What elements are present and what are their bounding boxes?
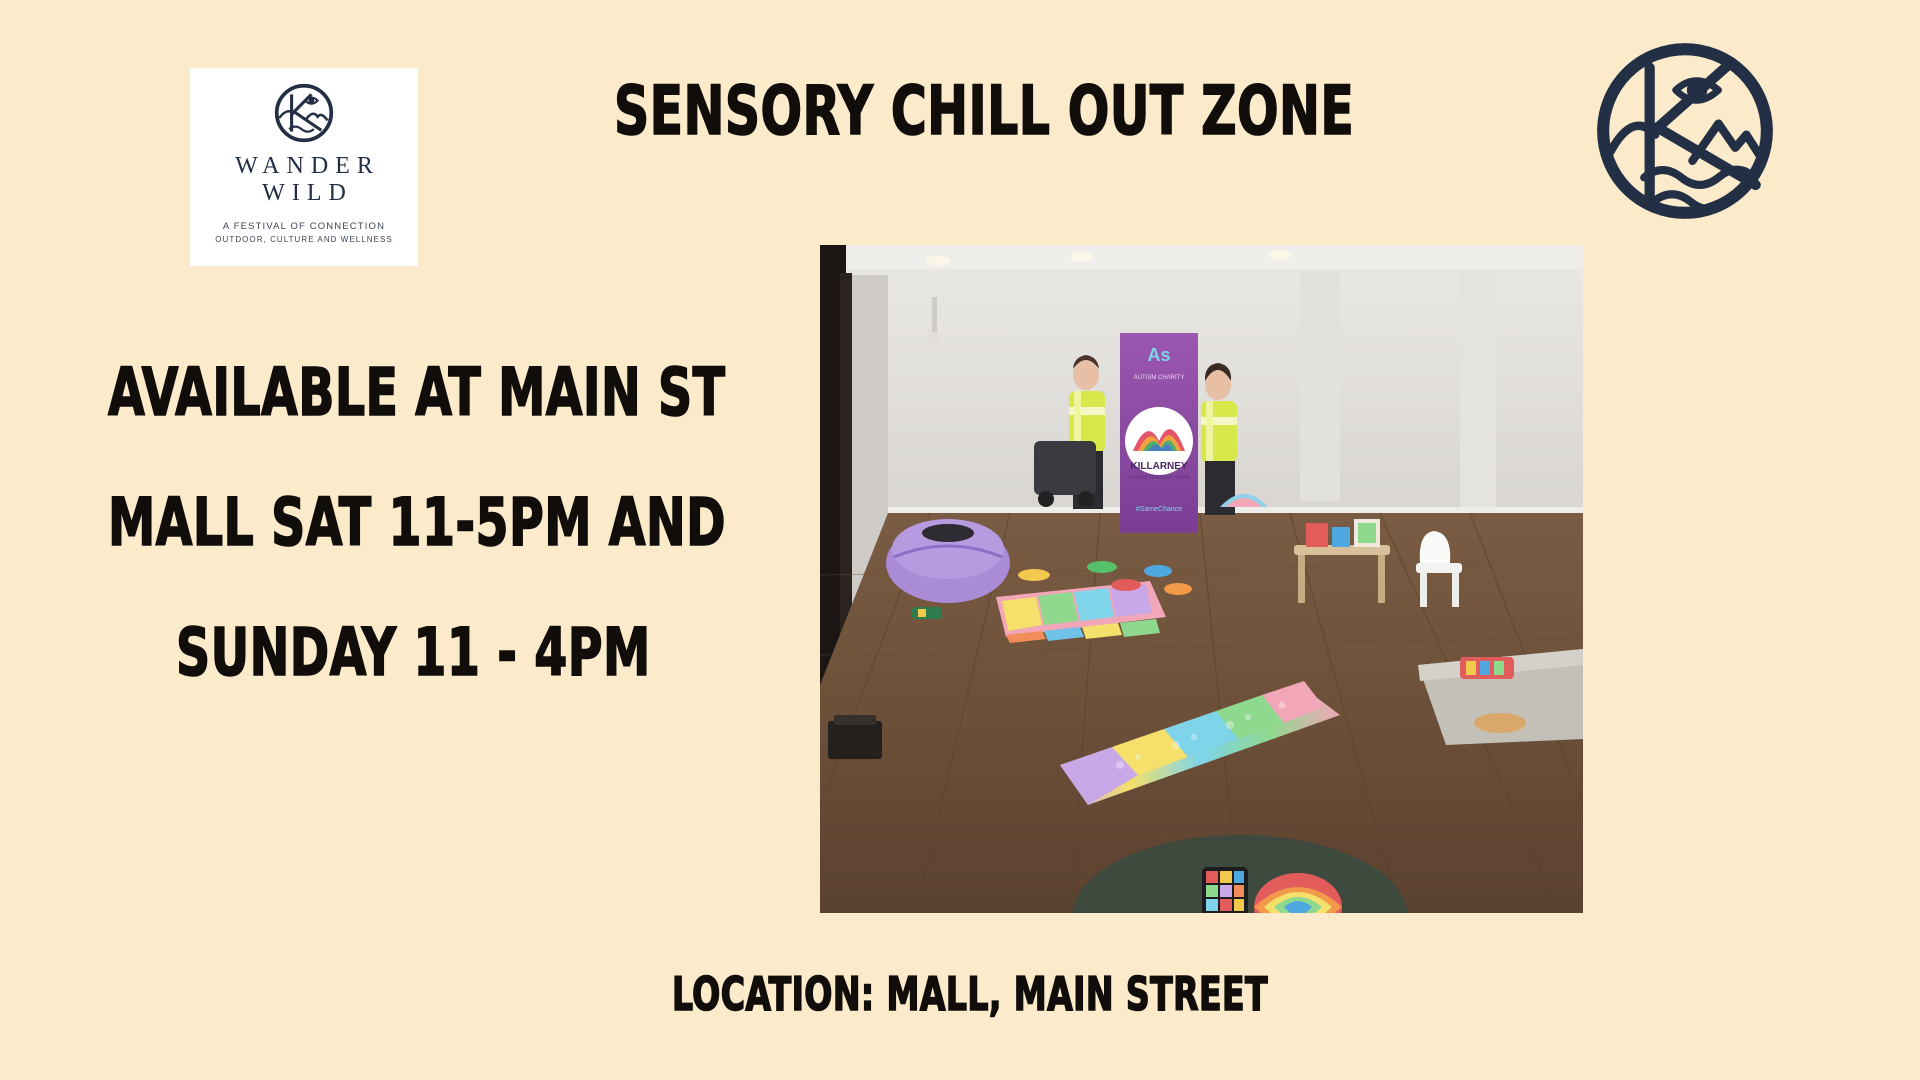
svg-text:AUTISM FRIENDLY TOWN: AUTISM FRIENDLY TOWN [1128,475,1189,481]
brand-tagline-line-1: A FESTIVAL OF CONNECTION [223,221,385,232]
killarney-k-circle-emblem [1592,38,1778,224]
sensory-chill-out-room-photo: As IAm AUTISM CHARITY KILLARNEY AUTISM F… [820,245,1583,913]
page-title: SENSORY CHILL OUT ZONE [614,78,1354,146]
brand-tagline-line-2: OUTDOOR, CULTURE AND WELLNESS [215,235,392,244]
brand-wordmark-line-2: WILD [255,180,353,207]
availability-text-block: AVAILABLE AT MAIN ST MALL SAT 11-5PM AND… [108,360,768,686]
wander-wild-logo-card: WANDER WILD A FESTIVAL OF CONNECTION OUT… [190,68,418,266]
availability-line-2: MALL SAT 11-5PM AND [108,490,636,556]
brand-wordmark-line-1: WANDER [228,153,380,180]
svg-text:#SameChance: #SameChance [1136,506,1182,513]
svg-text:KILLARNEY: KILLARNEY [1130,461,1188,472]
wander-wild-circular-mark [273,82,335,144]
availability-line-3: SUNDAY 11 - 4PM [176,620,650,686]
poster-canvas: WANDER WILD A FESTIVAL OF CONNECTION OUT… [0,0,1920,1080]
svg-text:AUTISM CHARITY: AUTISM CHARITY [1134,375,1185,381]
location-text: LOCATION: MALL, MAIN STREET [672,971,1268,1017]
availability-line-1: AVAILABLE AT MAIN ST [108,360,636,426]
